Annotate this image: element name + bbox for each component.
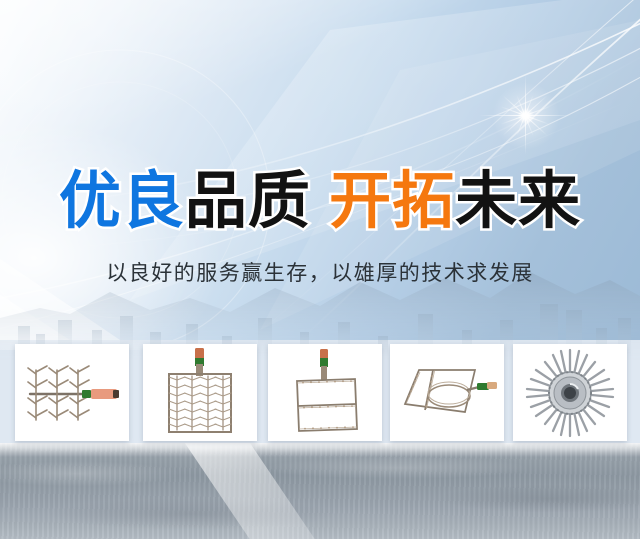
headline-segment-3: 开拓	[329, 167, 455, 236]
star-flare-icon	[525, 115, 527, 117]
headline-spacer	[311, 167, 329, 236]
product-card-4[interactable]	[390, 344, 504, 441]
product-card-4-image	[390, 344, 504, 441]
product-card-3[interactable]	[268, 344, 382, 441]
product-card-1-image	[15, 344, 129, 441]
ring-frame-wire-icon	[397, 360, 497, 426]
product-card-3-image	[268, 344, 382, 441]
ground-surface	[0, 443, 640, 539]
promo-banner: 优良品质 开拓未来 以良好的服务赢生存，以雄厚的技术求发展	[0, 0, 640, 539]
product-card-2[interactable]	[143, 344, 257, 441]
ground-texture	[0, 443, 640, 539]
wire-comb-rake-icon	[20, 352, 124, 434]
headline-segment-1: 优良	[59, 167, 185, 236]
radial-spike-wheel-icon	[524, 347, 616, 439]
barbed-brush-panel-icon	[157, 348, 243, 438]
page-subtitle: 以良好的服务赢生存，以雄厚的技术求发展	[0, 258, 640, 290]
product-card-1[interactable]	[15, 344, 129, 441]
headline-segment-4: 未来	[455, 167, 581, 236]
product-card-5-image	[513, 344, 627, 441]
headline-segment-2: 品质	[185, 167, 311, 236]
page-title: 优良品质 开拓未来	[0, 166, 640, 238]
product-card-strip	[0, 344, 640, 444]
framed-wire-screen-icon	[285, 349, 365, 437]
product-card-5[interactable]	[513, 344, 627, 441]
ground-top-highlight	[0, 443, 640, 457]
product-card-2-image	[143, 344, 257, 441]
